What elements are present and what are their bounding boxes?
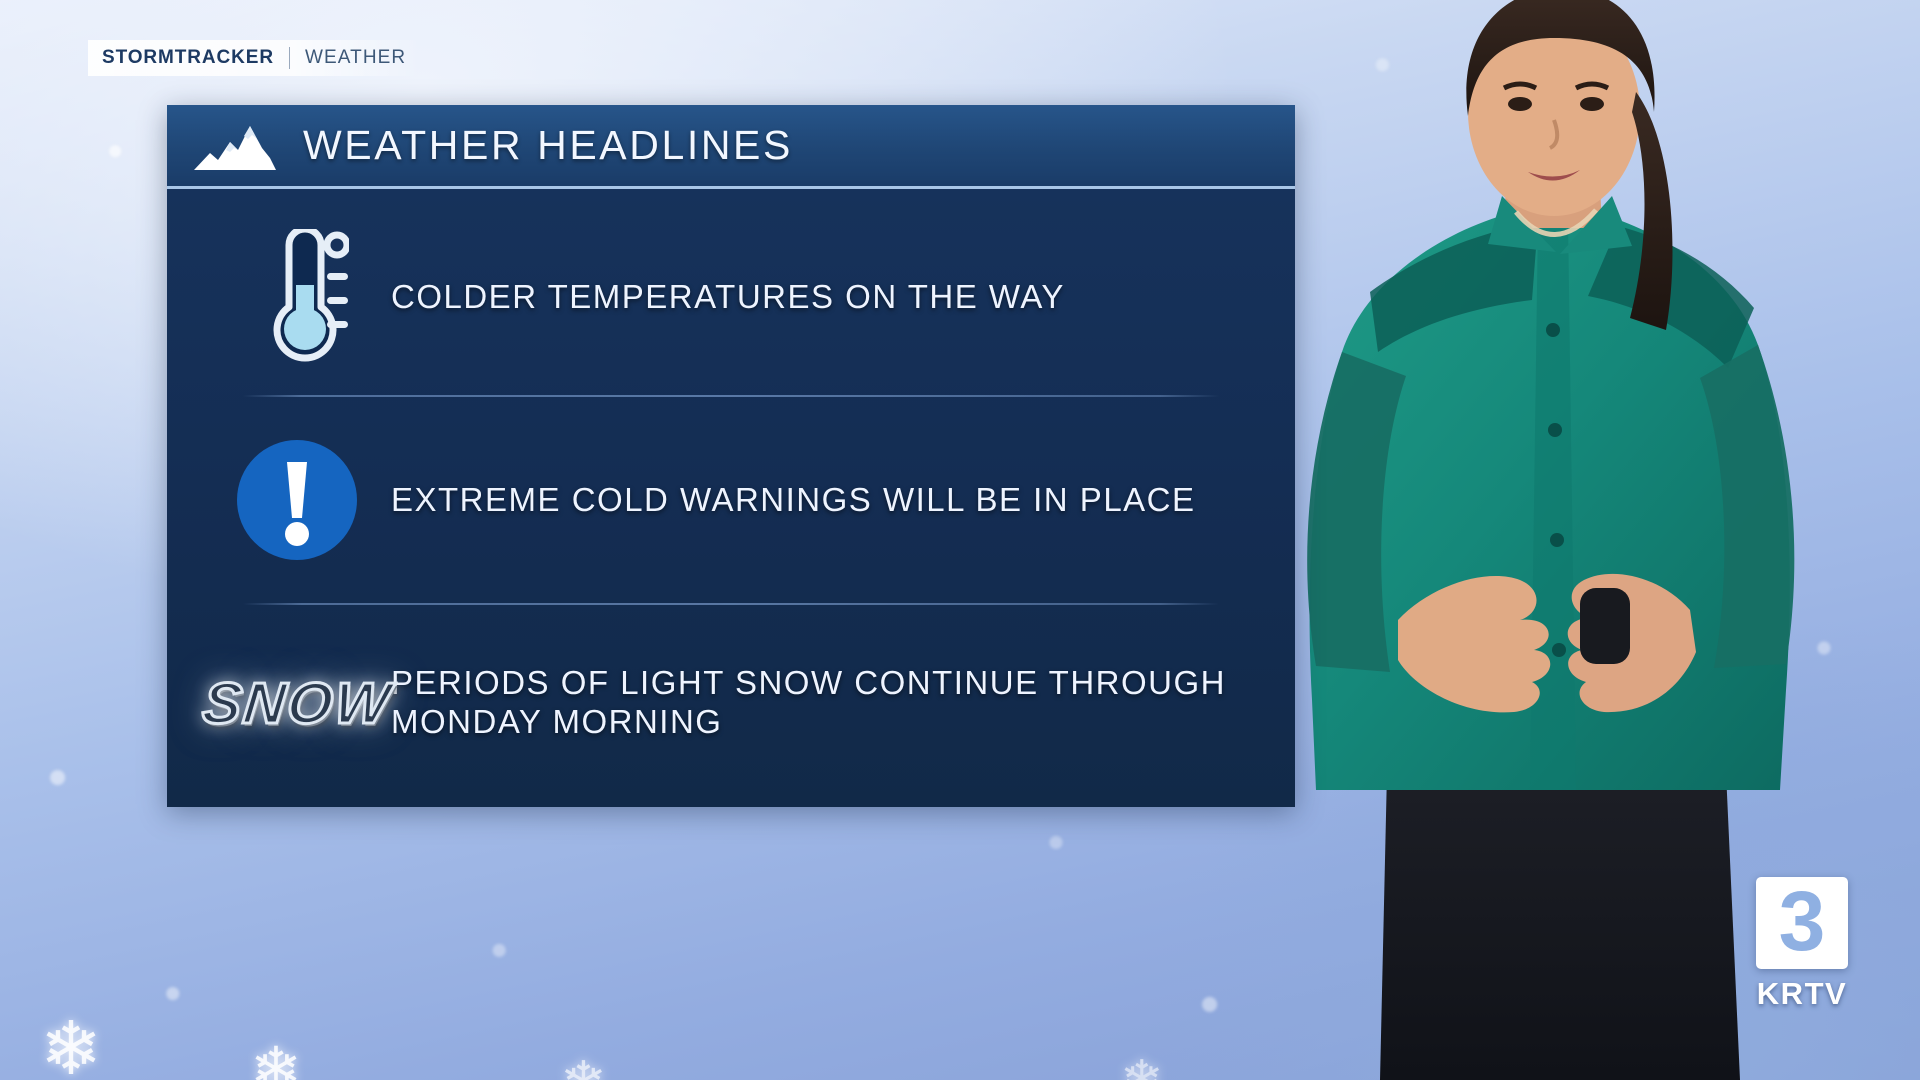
broadcast-frame: ❄ ❄ ❄ ❄ ❄ bbox=[0, 0, 1920, 1080]
channel-number: 3 bbox=[1779, 886, 1826, 957]
brand-strip: STORMTRACKER WEATHER bbox=[88, 40, 420, 76]
brand-primary-label: STORMTRACKER bbox=[102, 47, 274, 69]
headline-text: PERIODS OF LIGHT SNOW CONTINUE THROUGH M… bbox=[391, 664, 1251, 742]
snow-wordmark-text: SNOW bbox=[199, 670, 394, 737]
channel-number-badge: 3 bbox=[1756, 877, 1848, 969]
snowflake-icon: ❄ bbox=[1120, 1054, 1164, 1080]
headline-text: EXTREME COLD WARNINGS WILL BE IN PLACE bbox=[391, 481, 1196, 520]
headline-row: COLDER TEMPERATURES ON THE WAY bbox=[167, 199, 1295, 395]
snow-wordmark-icon: SNOW bbox=[203, 670, 391, 737]
panel-header: WEATHER HEADLINES bbox=[167, 105, 1295, 189]
snowflake-icon: ❄ bbox=[560, 1054, 607, 1080]
panel-body: COLDER TEMPERATURES ON THE WAY EXTREME C… bbox=[167, 189, 1295, 807]
brand-secondary-label: WEATHER bbox=[305, 47, 406, 69]
headline-row: EXTREME COLD WARNINGS WILL BE IN PLACE bbox=[167, 397, 1295, 603]
brand-separator bbox=[289, 47, 290, 69]
thermometer-icon bbox=[203, 229, 391, 365]
exclamation-circle-icon bbox=[203, 438, 391, 562]
station-logo: 3 KRTV bbox=[1744, 877, 1860, 1012]
weather-headlines-panel: WEATHER HEADLINES COLDER TEMPERATUR bbox=[167, 105, 1295, 807]
headline-text: COLDER TEMPERATURES ON THE WAY bbox=[391, 278, 1065, 317]
station-callsign: KRTV bbox=[1757, 976, 1847, 1012]
headline-row: SNOW PERIODS OF LIGHT SNOW CONTINUE THRO… bbox=[167, 605, 1295, 801]
panel-title: WEATHER HEADLINES bbox=[303, 122, 793, 169]
snowflake-icon: ❄ bbox=[250, 1040, 302, 1080]
snowflake-icon: ❄ bbox=[40, 1012, 102, 1080]
mountain-icon bbox=[189, 120, 281, 172]
